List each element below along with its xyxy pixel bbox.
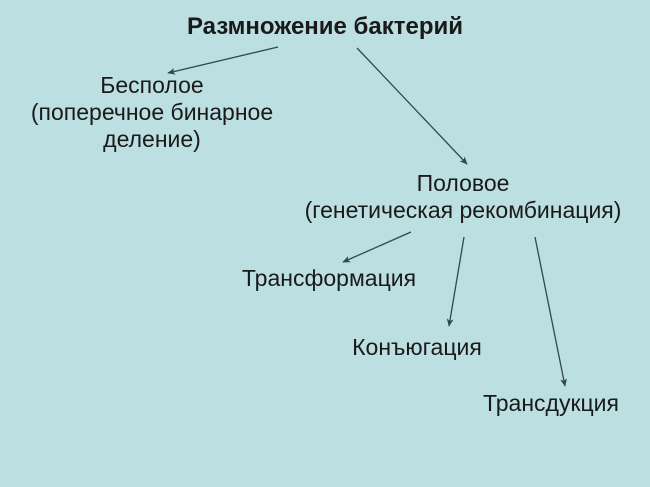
slide-canvas: Размножение бактерий Бесполое (поперечно…: [0, 0, 650, 487]
arrow-title-to-sexual: [357, 48, 467, 164]
node-conjugation: Конъюгация: [337, 334, 497, 361]
arrow-sexual-to-transduction: [535, 237, 565, 386]
arrow-title-to-asexual: [168, 47, 278, 73]
node-asexual-reproduction: Бесполое (поперечное бинарное деление): [2, 72, 302, 153]
arrow-sexual-to-conjugation: [449, 237, 464, 326]
node-transformation: Трансформация: [219, 265, 439, 292]
node-sexual-reproduction: Половое (генетическая рекомбинация): [276, 170, 650, 224]
arrow-sexual-to-transformation: [343, 232, 411, 262]
node-transduction: Трансдукция: [461, 390, 641, 417]
diagram-title: Размножение бактерий: [0, 13, 650, 41]
